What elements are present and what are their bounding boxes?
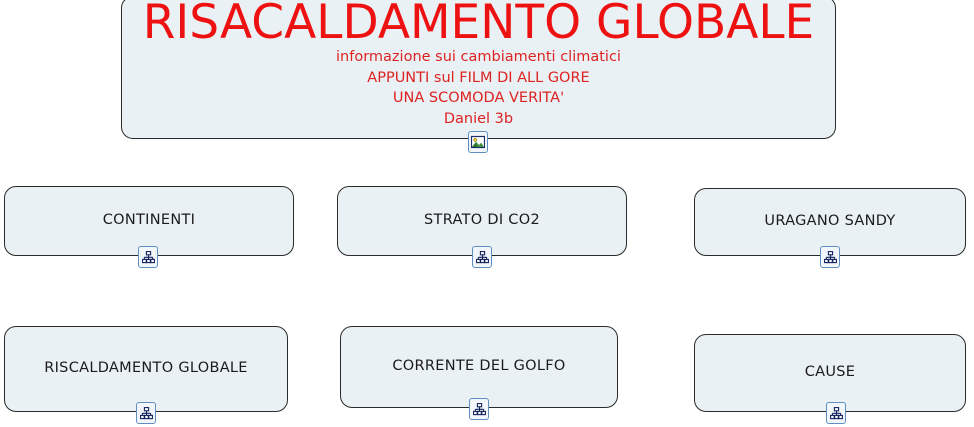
hierarchy-icon[interactable]: [826, 402, 846, 424]
node-cause[interactable]: CAUSE: [694, 334, 966, 412]
node-label: CONTINENTI: [103, 212, 196, 229]
title-node[interactable]: RISACALDAMENTO GLOBALE informazione sui …: [121, 0, 836, 139]
subtitle-line-2: APPUNTI sul FILM DI ALL GORE: [367, 68, 589, 89]
hierarchy-icon[interactable]: [820, 246, 840, 268]
node-label: URAGANO SANDY: [764, 213, 895, 230]
mindmap-canvas: RISACALDAMENTO GLOBALE informazione sui …: [0, 0, 974, 427]
node-label: STRATO DI CO2: [424, 212, 540, 229]
subtitle-line-1: informazione sui cambiamenti climatici: [336, 47, 621, 68]
hierarchy-icon[interactable]: [138, 246, 158, 268]
node-label: CAUSE: [805, 364, 856, 381]
page-title: RISACALDAMENTO GLOBALE: [143, 0, 814, 47]
picture-icon[interactable]: [468, 131, 488, 153]
subtitle-line-3: UNA SCOMODA VERITA': [393, 88, 564, 109]
hierarchy-icon[interactable]: [469, 398, 489, 420]
node-corrente-del-golfo[interactable]: CORRENTE DEL GOLFO: [340, 326, 618, 408]
node-riscaldamento-globale[interactable]: RISCALDAMENTO GLOBALE: [4, 326, 288, 412]
hierarchy-icon[interactable]: [472, 246, 492, 268]
node-label: CORRENTE DEL GOLFO: [392, 358, 565, 375]
node-label: RISCALDAMENTO GLOBALE: [44, 360, 248, 377]
subtitle-line-4: Daniel 3b: [444, 109, 513, 130]
hierarchy-icon[interactable]: [136, 402, 156, 424]
